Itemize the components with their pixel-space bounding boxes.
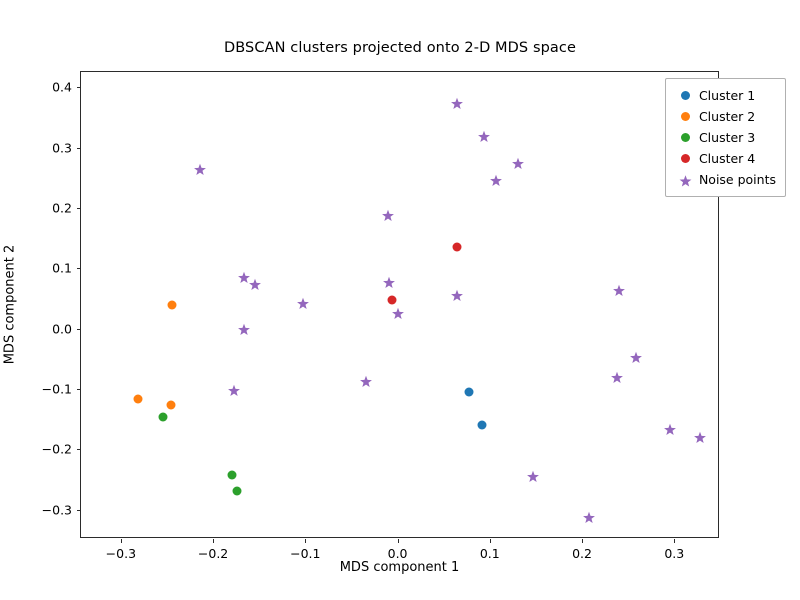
noise-point-marker xyxy=(663,421,676,434)
y-axis-tick-label: −0.1 xyxy=(42,381,72,396)
x-axis-label: MDS component 1 xyxy=(80,560,719,575)
legend-marker xyxy=(673,112,699,121)
legend-item-cluster-3[interactable]: Cluster 3 xyxy=(673,127,776,148)
x-axis-tick-label: 0.0 xyxy=(388,546,408,561)
noise-point-marker xyxy=(391,305,404,318)
legend-marker xyxy=(673,91,699,100)
noise-point-marker xyxy=(383,274,396,287)
legend-marker xyxy=(673,173,699,186)
x-axis-tick xyxy=(398,539,399,543)
noise-point-marker xyxy=(611,369,624,382)
x-axis-tick xyxy=(490,539,491,543)
noise-point-marker xyxy=(296,296,309,309)
legend-marker xyxy=(673,154,699,163)
cluster-point-marker xyxy=(159,413,168,422)
y-axis-tick xyxy=(77,510,81,511)
noise-point-marker xyxy=(694,430,707,443)
legend-label: Cluster 3 xyxy=(699,130,755,145)
scatter-plot-figure: DBSCAN clusters projected onto 2-D MDS s… xyxy=(0,0,800,600)
x-axis-tick-label: 0.3 xyxy=(664,546,684,561)
y-axis-tick xyxy=(77,329,81,330)
noise-point-marker xyxy=(612,283,625,296)
y-axis-tick-label: −0.2 xyxy=(42,442,72,457)
noise-point-marker xyxy=(248,277,261,290)
y-axis-tick xyxy=(77,449,81,450)
noise-point-marker xyxy=(478,128,491,141)
cluster-point-marker xyxy=(167,300,176,309)
noise-point-marker xyxy=(450,287,463,300)
data-points-layer xyxy=(81,72,718,537)
legend-item-cluster-4[interactable]: Cluster 4 xyxy=(673,148,776,169)
legend-item-noise-points[interactable]: Noise points xyxy=(673,169,776,190)
cluster-point-marker xyxy=(233,486,242,495)
y-axis-tick xyxy=(77,148,81,149)
cluster-point-marker xyxy=(166,400,175,409)
cluster-point-marker xyxy=(681,112,690,121)
y-axis-label-text: MDS component 2 xyxy=(3,245,18,365)
legend-label: Cluster 1 xyxy=(699,88,755,103)
y-axis-tick-label: 0.4 xyxy=(52,80,72,95)
legend-label: Noise points xyxy=(699,172,776,187)
noise-point-marker xyxy=(360,373,373,386)
y-axis-tick xyxy=(77,389,81,390)
cluster-point-marker xyxy=(464,387,473,396)
cluster-point-marker xyxy=(452,242,461,251)
cluster-point-marker xyxy=(388,295,397,304)
legend-label: Cluster 2 xyxy=(699,109,755,124)
y-axis-tick-label: 0.0 xyxy=(52,321,72,336)
noise-point-marker xyxy=(629,350,642,363)
legend[interactable]: Cluster 1Cluster 2Cluster 3Cluster 4Nois… xyxy=(665,78,786,197)
y-axis-tick-label: 0.2 xyxy=(52,200,72,215)
x-axis-tick-label: −0.3 xyxy=(106,546,136,561)
noise-point-marker xyxy=(527,469,540,482)
noise-point-marker xyxy=(450,96,463,109)
noise-point-marker xyxy=(237,322,250,335)
y-axis-tick xyxy=(77,268,81,269)
cluster-point-marker xyxy=(681,133,690,142)
cluster-point-marker xyxy=(681,91,690,100)
legend-marker xyxy=(673,133,699,142)
x-axis-tick-label: 0.1 xyxy=(480,546,500,561)
y-axis-tick xyxy=(77,208,81,209)
noise-point-marker xyxy=(194,162,207,175)
noise-point-marker xyxy=(228,382,241,395)
x-axis-tick xyxy=(305,539,306,543)
noise-point-marker xyxy=(490,173,503,186)
noise-point-marker xyxy=(512,156,525,169)
y-axis-tick-label: 0.3 xyxy=(52,140,72,155)
plot-area: −0.3−0.2−0.10.00.10.20.3−0.3−0.2−0.10.00… xyxy=(80,71,719,538)
y-axis-tick-label: −0.3 xyxy=(42,502,72,517)
y-axis-tick-label: 0.1 xyxy=(52,261,72,276)
noise-point-marker xyxy=(679,173,692,186)
x-axis-tick-label: −0.2 xyxy=(198,546,228,561)
cluster-point-marker xyxy=(134,395,143,404)
cluster-point-marker xyxy=(478,420,487,429)
x-axis-tick-label: −0.1 xyxy=(290,546,320,561)
y-axis-tick xyxy=(77,87,81,88)
noise-point-marker xyxy=(238,269,251,282)
x-axis-tick xyxy=(213,539,214,543)
cluster-point-marker xyxy=(681,154,690,163)
legend-label: Cluster 4 xyxy=(699,151,755,166)
x-axis-tick xyxy=(582,539,583,543)
page-title: DBSCAN clusters projected onto 2-D MDS s… xyxy=(0,40,800,56)
noise-point-marker xyxy=(583,509,596,522)
x-axis-tick xyxy=(674,539,675,543)
legend-item-cluster-2[interactable]: Cluster 2 xyxy=(673,106,776,127)
x-axis-tick xyxy=(121,539,122,543)
y-axis-label: MDS component 2 xyxy=(0,71,20,538)
legend-item-cluster-1[interactable]: Cluster 1 xyxy=(673,85,776,106)
x-axis-tick-label: 0.2 xyxy=(572,546,592,561)
noise-point-marker xyxy=(382,208,395,221)
cluster-point-marker xyxy=(228,470,237,479)
